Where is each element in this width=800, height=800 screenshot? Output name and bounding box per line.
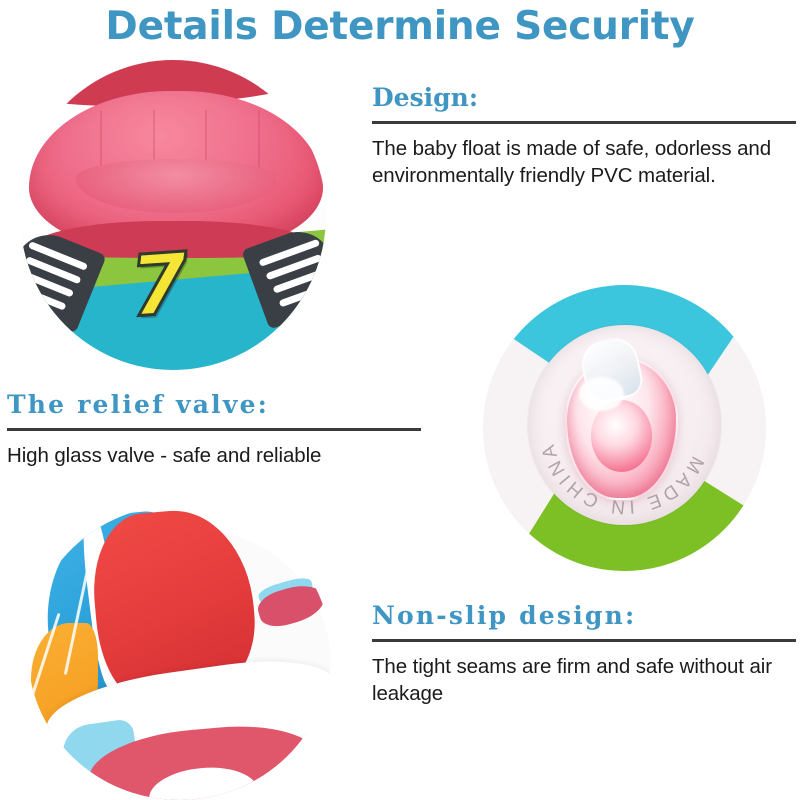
section-non-slip-heading: Non-slip design: [372,601,796,631]
seat-number-decal: 7 [127,241,191,329]
valve-core [591,400,652,472]
valve-scene: MADE IN CHINA [483,285,766,571]
seat-scene: 7 [20,60,326,370]
section-relief-valve-heading: The relief valve: [7,390,421,420]
seam-scene [28,505,331,800]
section-design: Design: The baby float is made of safe, … [372,83,796,189]
photo-circle-seam [28,505,331,800]
valve-body [565,357,678,500]
section-design-divider [372,121,796,124]
section-non-slip-body: The tight seams are firm and safe withou… [372,653,796,707]
photo-circle-valve: MADE IN CHINA [483,285,766,571]
seat-cushion-inner [76,159,276,214]
section-non-slip: Non-slip design: The tight seams are fir… [372,601,796,707]
page-title: Details Determine Security [0,2,800,52]
valve-highlight [579,377,624,411]
infographic-page: Details Determine Security [0,0,800,800]
section-relief-valve-divider [7,428,421,431]
section-non-slip-divider [372,639,796,642]
section-design-heading: Design: [372,83,796,113]
section-design-body: The baby float is made of safe, odorless… [372,135,796,189]
section-relief-valve: The relief valve: High glass valve - saf… [7,390,421,469]
photo-circle-seat: 7 [20,60,326,370]
section-relief-valve-body: High glass valve - safe and reliable [7,442,421,469]
